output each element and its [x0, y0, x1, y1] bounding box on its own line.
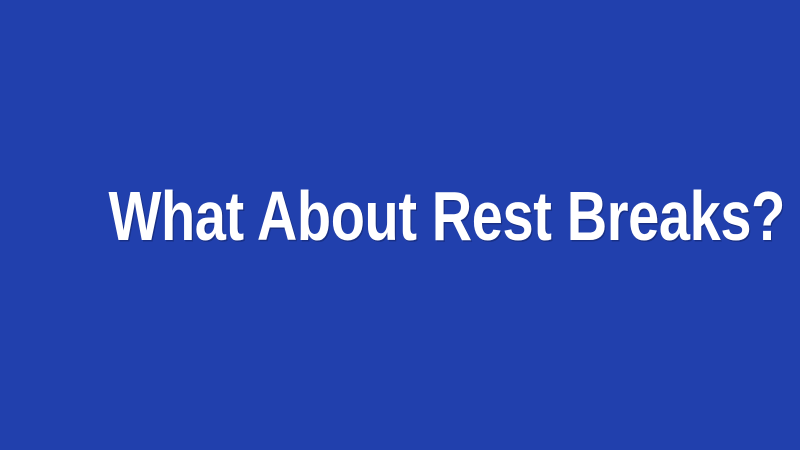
- headline-container: What About Rest Breaks?: [0, 181, 800, 252]
- slide-title: What About Rest Breaks?: [109, 181, 785, 252]
- title-slide: What About Rest Breaks?: [0, 0, 800, 450]
